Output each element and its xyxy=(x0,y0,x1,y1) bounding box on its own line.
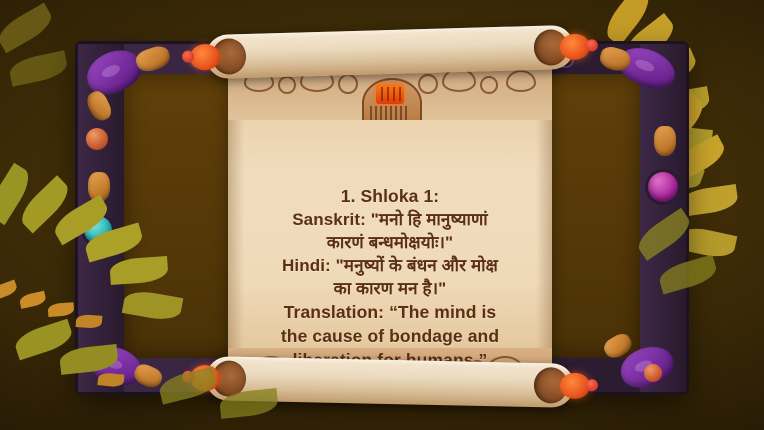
leaf xyxy=(678,184,739,217)
shloka-line: the cause of bondage and xyxy=(250,325,530,348)
parchment-scroll: 1. Shloka 1: Sanskrit: "मनो हि मानुष्याण… xyxy=(214,14,566,418)
leaf xyxy=(0,279,19,300)
emblem-core xyxy=(376,84,404,104)
line-label: Hindi: xyxy=(282,256,331,275)
line-text: “The mind is xyxy=(389,302,496,322)
orange-ornament xyxy=(654,126,676,156)
parchment-sheet: 1. Shloka 1: Sanskrit: "मनो हि मानुष्याण… xyxy=(228,56,552,392)
leaf xyxy=(0,163,35,225)
shloka-text-block: 1. Shloka 1: Sanskrit: "मनो हि मानुष्याण… xyxy=(250,184,530,372)
line-text: the cause of bondage and xyxy=(281,326,499,346)
leaf xyxy=(12,319,75,361)
shloka-line: का कारण मन है।" xyxy=(250,278,530,300)
leaf xyxy=(15,175,74,233)
shloka-line: Translation: “The mind is xyxy=(250,301,530,324)
band-swirl xyxy=(480,76,498,94)
shloka-heading: 1. Shloka 1: xyxy=(250,185,530,208)
line-text: कारणं बन्धमोक्षयोः।" xyxy=(327,233,453,252)
leaf xyxy=(600,0,655,46)
leaf xyxy=(48,302,75,317)
sun-emblem xyxy=(354,70,426,120)
line-text: "मनो हि मानुष्याणां xyxy=(371,210,488,229)
stud-ornament xyxy=(644,364,662,382)
stud-ornament xyxy=(86,128,108,150)
band-swirl xyxy=(278,76,296,94)
leaf xyxy=(0,3,56,54)
band-swirl xyxy=(506,70,536,92)
magenta-gem xyxy=(648,172,678,202)
line-label: Translation: xyxy=(284,302,384,322)
frame-edge-right xyxy=(640,44,686,392)
line-text: का कारण मन है।" xyxy=(334,279,447,298)
scroll-roll-bottom xyxy=(206,356,575,408)
leaf xyxy=(7,50,69,87)
scroll-scene: 1. Shloka 1: Sanskrit: "मनो हि मानुष्याण… xyxy=(0,0,764,430)
shloka-line: Sanskrit: "मनो हि मानुष्याणां xyxy=(250,209,530,231)
shloka-line: कारणं बन्धमोक्षयोः।" xyxy=(250,232,530,254)
orange-ornament xyxy=(88,172,110,202)
shloka-line: Hindi: "मनुष्यों के बंधन और मोक्ष xyxy=(250,255,530,277)
teal-gem xyxy=(84,216,112,244)
emblem-fringe xyxy=(370,106,410,120)
leaf xyxy=(19,291,47,309)
line-text: "मनुष्यों के बंधन और मोक्ष xyxy=(336,256,498,275)
line-label: Sanskrit: xyxy=(292,210,366,229)
